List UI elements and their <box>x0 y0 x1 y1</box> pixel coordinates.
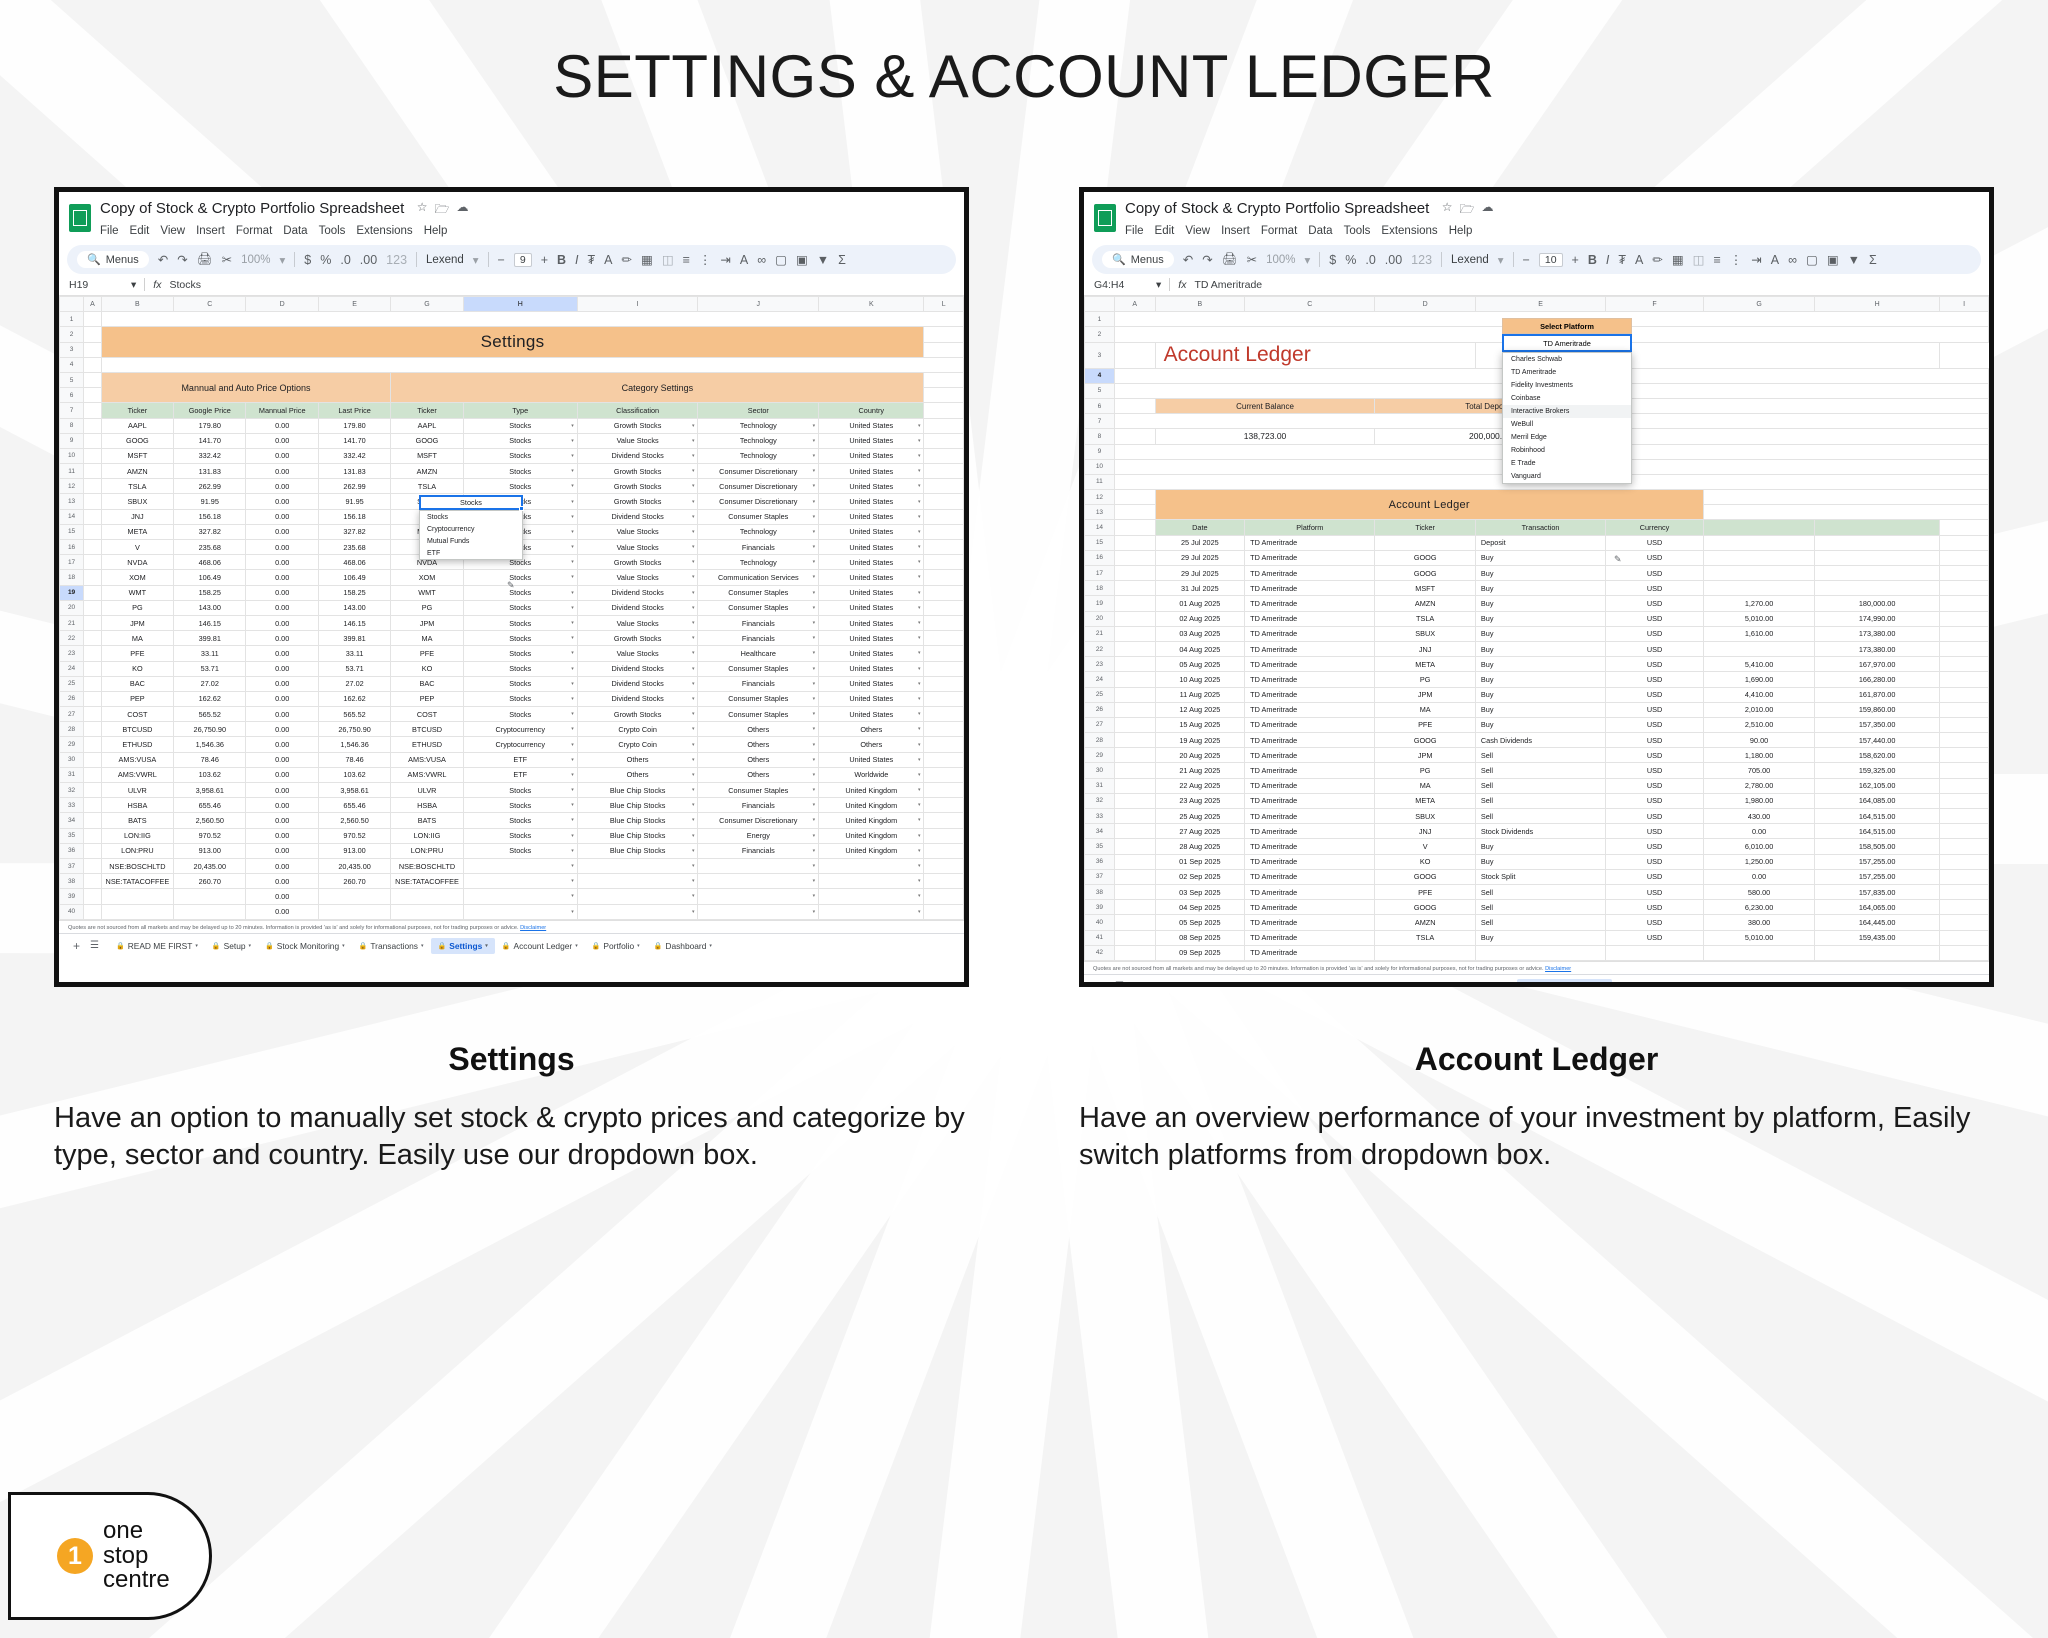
chevron-down-icon[interactable]: ▾ <box>918 544 921 550</box>
cell-ticker2[interactable] <box>391 904 463 919</box>
row-number[interactable]: 2 <box>1085 327 1115 342</box>
cell-google-price[interactable] <box>174 889 246 904</box>
sheet-tab-stock-monitoring[interactable]: 🔒Stock Monitoring▾ <box>1283 979 1377 987</box>
dropdown-cell[interactable]: Consumer Staples▾ <box>698 661 819 676</box>
cell-manual-price[interactable]: 0.00 <box>246 843 318 858</box>
cell-platform[interactable]: TD Ameritrade <box>1245 550 1375 565</box>
dropdown-cell[interactable]: Stocks▾ <box>463 464 577 479</box>
row-number[interactable]: 42 <box>1085 945 1115 960</box>
print-icon[interactable]: 🖨 <box>197 252 213 267</box>
dropdown-cell[interactable]: Financials▾ <box>698 676 819 691</box>
decrease-decimal-icon[interactable]: .0 <box>1365 253 1375 267</box>
chevron-down-icon[interactable]: ▾ <box>195 943 198 949</box>
cell-ticker2[interactable] <box>391 889 463 904</box>
dropdown-cell[interactable]: Value Stocks▾ <box>577 524 698 539</box>
dropdown-cell[interactable]: Dividend Stocks▾ <box>577 448 698 463</box>
row-number[interactable]: 6 <box>60 388 84 403</box>
dropdown-cell[interactable]: Crypto Coin▾ <box>577 737 698 752</box>
cell-last-price[interactable]: 162.62 <box>318 691 390 706</box>
chevron-down-icon[interactable]: ▾ <box>571 863 574 869</box>
more-formats-icon[interactable]: 123 <box>386 253 407 267</box>
font-size-increase-icon[interactable]: + <box>1572 253 1579 267</box>
cell-manual-price[interactable]: 0.00 <box>246 448 318 463</box>
dropdown-cell[interactable]: Consumer Discretionary▾ <box>698 494 819 509</box>
cell-platform[interactable]: TD Ameritrade <box>1245 611 1375 626</box>
dropdown-cell[interactable]: ▾ <box>698 889 819 904</box>
dropdown-cell[interactable]: Communication Services▾ <box>698 570 819 585</box>
dropdown-cell[interactable]: United Kingdom▾ <box>819 813 924 828</box>
move-folder-icon[interactable]: 🗁 <box>435 200 450 221</box>
chevron-down-icon[interactable]: ▾ <box>692 438 695 444</box>
chevron-down-icon[interactable]: ▾ <box>1446 984 1449 987</box>
chevron-down-icon[interactable]: ▾ <box>692 468 695 474</box>
cell-date[interactable]: 02 Sep 2025 <box>1155 869 1245 884</box>
cell-ticker[interactable]: META <box>1375 793 1475 808</box>
cell-currency[interactable]: USD <box>1606 748 1704 763</box>
row-number[interactable]: 8 <box>1085 429 1115 444</box>
dropdown-option-cryptocurrency[interactable]: Cryptocurrency <box>420 523 522 535</box>
dropdown-cell[interactable]: United States▾ <box>819 524 924 539</box>
chevron-down-icon[interactable]: ▾ <box>692 499 695 505</box>
cell-balance[interactable] <box>1815 581 1940 596</box>
cell-ticker[interactable]: NSE:TATACOFFEE <box>101 874 173 889</box>
cell-google-price[interactable]: 106.49 <box>174 570 246 585</box>
cell-balance[interactable]: 161,870.00 <box>1815 687 1940 702</box>
cell-last-price[interactable]: 158.25 <box>318 585 390 600</box>
cell-amount[interactable] <box>1703 550 1814 565</box>
chevron-down-icon[interactable]: ▾ <box>571 681 574 687</box>
cell-currency[interactable]: USD <box>1606 581 1704 596</box>
cell-last-price[interactable]: 26,750.90 <box>318 722 390 737</box>
cell-currency[interactable]: USD <box>1606 626 1704 641</box>
row-number[interactable]: 38 <box>60 874 84 889</box>
chevron-down-icon[interactable]: ▾ <box>813 650 816 656</box>
cell-google-price[interactable]: 53.71 <box>174 661 246 676</box>
chevron-down-icon[interactable]: ▾ <box>813 757 816 763</box>
row-number[interactable]: 33 <box>60 798 84 813</box>
cell-manual-price[interactable]: 0.00 <box>246 433 318 448</box>
cell-ticker2[interactable]: GOOG <box>391 433 463 448</box>
chevron-down-icon[interactable]: ▾ <box>571 817 574 823</box>
cell-ticker2[interactable]: XOM <box>391 570 463 585</box>
cell-amount[interactable]: 90.00 <box>1703 733 1814 748</box>
cell-date[interactable]: 01 Sep 2025 <box>1155 854 1245 869</box>
row-number[interactable]: 15 <box>1085 535 1115 550</box>
cell-date[interactable]: 29 Jul 2025 <box>1155 566 1245 581</box>
dropdown-cell[interactable]: United States▾ <box>819 464 924 479</box>
dropdown-cell[interactable]: United States▾ <box>819 752 924 767</box>
dropdown-cell[interactable]: Cryptocurrency▾ <box>463 722 577 737</box>
cell-google-price[interactable]: 27.02 <box>174 676 246 691</box>
chevron-down-icon[interactable]: ▾ <box>571 529 574 535</box>
cell-ticker2[interactable]: NSE:BOSCHLTD <box>391 858 463 873</box>
dropdown-cell[interactable]: ▾ <box>463 874 577 889</box>
sheet-tab-stock-monitoring[interactable]: 🔒Stock Monitoring▾ <box>258 938 352 954</box>
chevron-down-icon[interactable]: ▾ <box>813 681 816 687</box>
cell-ticker[interactable]: NVDA <box>101 555 173 570</box>
cell-last-price[interactable]: 468.06 <box>318 555 390 570</box>
chevron-down-icon[interactable]: ▾ <box>571 590 574 596</box>
menu-help[interactable]: Help <box>1449 225 1473 237</box>
cell-amount[interactable]: 5,410.00 <box>1703 657 1814 672</box>
cell-date[interactable]: 12 Aug 2025 <box>1155 702 1245 717</box>
cell-date[interactable]: 23 Aug 2025 <box>1155 793 1245 808</box>
cell-manual-price[interactable]: 0.00 <box>246 676 318 691</box>
cell-balance[interactable] <box>1815 945 1940 960</box>
cell-balance[interactable]: 157,350.00 <box>1815 717 1940 732</box>
row-number[interactable]: 34 <box>60 813 84 828</box>
cell-last-price[interactable]: 53.71 <box>318 661 390 676</box>
comment-icon[interactable]: ▢ <box>775 252 787 267</box>
dropdown-cell[interactable]: Consumer Staples▾ <box>698 600 819 615</box>
chevron-down-icon[interactable]: ▾ <box>692 848 695 854</box>
font-size-increase-icon[interactable]: + <box>541 253 548 267</box>
row-number[interactable]: 21 <box>60 615 84 630</box>
dropdown-cell[interactable]: Growth Stocks▾ <box>577 631 698 646</box>
cell-date[interactable]: 25 Jul 2025 <box>1155 535 1245 550</box>
platform-selected-value[interactable]: TD Ameritrade <box>1502 334 1632 352</box>
namebox-caret-icon[interactable]: ▾ <box>1156 279 1161 291</box>
dropdown-cell[interactable]: United Kingdom▾ <box>819 828 924 843</box>
cell-google-price[interactable]: 146.15 <box>174 615 246 630</box>
cell-transaction[interactable]: Sell <box>1475 809 1605 824</box>
chevron-down-icon[interactable]: ▾ <box>813 893 816 899</box>
chevron-down-icon[interactable]: ▾ <box>918 696 921 702</box>
cell-last-price[interactable]: 2,560.50 <box>318 813 390 828</box>
chevron-down-icon[interactable]: ▾ <box>813 848 816 854</box>
row-number[interactable]: 32 <box>60 783 84 798</box>
dropdown-cell[interactable]: ▾ <box>698 904 819 919</box>
cell-ticker[interactable]: JPM <box>101 615 173 630</box>
cell-amount[interactable]: 2,510.00 <box>1703 717 1814 732</box>
chevron-down-icon[interactable]: ▾ <box>918 817 921 823</box>
cell-balance[interactable]: 158,620.00 <box>1815 748 1940 763</box>
dropdown-cell[interactable]: Dividend Stocks▾ <box>577 600 698 615</box>
row-number[interactable]: 35 <box>60 828 84 843</box>
cell-platform[interactable]: TD Ameritrade <box>1245 641 1375 656</box>
dropdown-cell[interactable]: Growth Stocks▾ <box>577 418 698 433</box>
dropdown-cell[interactable]: Stocks▾ <box>463 631 577 646</box>
chevron-down-icon[interactable]: ▾ <box>918 423 921 429</box>
dropdown-cell[interactable]: United States▾ <box>819 615 924 630</box>
cell-last-price[interactable]: 78.46 <box>318 752 390 767</box>
cell-amount[interactable]: 1,610.00 <box>1703 626 1814 641</box>
cell-amount[interactable]: 430.00 <box>1703 809 1814 824</box>
zoom-caret-icon[interactable]: ▾ <box>279 253 285 267</box>
cell-google-price[interactable]: 2,560.50 <box>174 813 246 828</box>
dropdown-cell[interactable]: Value Stocks▾ <box>577 646 698 661</box>
chevron-down-icon[interactable]: ▾ <box>813 878 816 884</box>
dropdown-cell[interactable]: ▾ <box>463 889 577 904</box>
chevron-down-icon[interactable]: ▾ <box>571 909 574 915</box>
cell-ticker[interactable]: GOOG <box>1375 733 1475 748</box>
insert-chart-icon[interactable]: ▣ <box>1827 252 1839 267</box>
cell-balance[interactable] <box>1815 535 1940 550</box>
cell-ticker[interactable]: AMZN <box>1375 596 1475 611</box>
cell-balance[interactable]: 166,280.00 <box>1815 672 1940 687</box>
edit-pencil-icon[interactable]: ✎ <box>1614 554 1622 565</box>
cell-platform[interactable]: TD Ameritrade <box>1245 869 1375 884</box>
cell-amount[interactable]: 6,230.00 <box>1703 900 1814 915</box>
cell-currency[interactable]: USD <box>1606 596 1704 611</box>
row-number[interactable]: 3 <box>60 342 84 357</box>
cell-platform[interactable]: TD Ameritrade <box>1245 535 1375 550</box>
cell-manual-price[interactable]: 0.00 <box>246 555 318 570</box>
cell-ticker2[interactable]: AMS:VUSA <box>391 752 463 767</box>
font-caret-icon[interactable]: ▾ <box>1498 253 1504 267</box>
chevron-down-icon[interactable]: ▾ <box>692 909 695 915</box>
row-number[interactable]: 9 <box>60 433 84 448</box>
cell-amount[interactable]: 2,010.00 <box>1703 702 1814 717</box>
cell-platform[interactable]: TD Ameritrade <box>1245 702 1375 717</box>
chevron-down-icon[interactable]: ▾ <box>571 802 574 808</box>
dropdown-cell[interactable]: Blue Chip Stocks▾ <box>577 843 698 858</box>
dropdown-cell[interactable]: ▾ <box>819 904 924 919</box>
cell-balance[interactable]: 173,380.00 <box>1815 626 1940 641</box>
cell-last-price[interactable]: 565.52 <box>318 707 390 722</box>
cell-amount[interactable] <box>1703 641 1814 656</box>
borders-icon[interactable]: ▦ <box>641 252 653 267</box>
chevron-down-icon[interactable]: ▾ <box>637 943 640 949</box>
cell-amount[interactable] <box>1703 581 1814 596</box>
cell-date[interactable]: 31 Jul 2025 <box>1155 581 1245 596</box>
col-A[interactable]: A <box>1114 297 1155 312</box>
cell-currency[interactable]: USD <box>1606 535 1704 550</box>
cell-ticker2[interactable]: KO <box>391 661 463 676</box>
dropdown-cell[interactable]: United States▾ <box>819 691 924 706</box>
chevron-down-icon[interactable]: ▾ <box>918 574 921 580</box>
col-G[interactable]: G <box>1703 297 1814 312</box>
row-number[interactable]: 23 <box>60 646 84 661</box>
dropdown-cell[interactable]: Others▾ <box>819 722 924 737</box>
dropdown-cell[interactable]: Stocks▾ <box>463 783 577 798</box>
chevron-down-icon[interactable]: ▾ <box>692 863 695 869</box>
cell-transaction[interactable]: Sell <box>1475 793 1605 808</box>
cell-amount[interactable]: 1,980.00 <box>1703 793 1814 808</box>
chevron-down-icon[interactable]: ▾ <box>918 483 921 489</box>
cell-manual-price[interactable]: 0.00 <box>246 570 318 585</box>
dropdown-cell[interactable]: United States▾ <box>819 555 924 570</box>
dropdown-cell[interactable]: United States▾ <box>819 631 924 646</box>
cell-google-price[interactable]: 103.62 <box>174 767 246 782</box>
cell-balance[interactable] <box>1815 566 1940 581</box>
cell-google-price[interactable]: 20,435.00 <box>174 858 246 873</box>
chevron-down-icon[interactable]: ▾ <box>692 681 695 687</box>
row-number[interactable]: 41 <box>1085 930 1115 945</box>
row-number[interactable]: 37 <box>1085 869 1115 884</box>
cell-currency[interactable] <box>1606 945 1704 960</box>
dropdown-cell[interactable]: United Kingdom▾ <box>819 783 924 798</box>
cell-last-price[interactable]: 20,435.00 <box>318 858 390 873</box>
row-number[interactable]: 34 <box>1085 824 1115 839</box>
chevron-down-icon[interactable]: ▾ <box>1220 984 1223 987</box>
cell-ticker2[interactable]: BAC <box>391 676 463 691</box>
cell-ticker[interactable]: PEP <box>101 691 173 706</box>
chevron-down-icon[interactable]: ▾ <box>1737 984 1740 987</box>
cell-transaction[interactable]: Buy <box>1475 657 1605 672</box>
chevron-down-icon[interactable]: ▾ <box>571 620 574 626</box>
row-number[interactable]: 11 <box>60 464 84 479</box>
cell-transaction[interactable]: Buy <box>1475 566 1605 581</box>
cell-date[interactable]: 02 Aug 2025 <box>1155 611 1245 626</box>
dropdown-cell[interactable]: Stocks▾ <box>463 448 577 463</box>
row-number[interactable]: 2 <box>60 327 84 342</box>
cell-ticker[interactable]: JNJ <box>1375 824 1475 839</box>
row-number[interactable]: 5 <box>60 372 84 387</box>
increase-decimal-icon[interactable]: .00 <box>1385 253 1402 267</box>
chevron-down-icon[interactable]: ▾ <box>692 787 695 793</box>
chevron-down-icon[interactable]: ▾ <box>575 943 578 949</box>
cell-manual-price[interactable]: 0.00 <box>246 691 318 706</box>
link-icon[interactable]: ∞ <box>1788 253 1797 267</box>
more-formats-icon[interactable]: 123 <box>1411 253 1432 267</box>
cell-last-price[interactable]: 399.81 <box>318 631 390 646</box>
cell-reference-right[interactable]: G4:H4 <box>1094 279 1148 291</box>
dropdown-cell[interactable]: United States▾ <box>819 540 924 555</box>
menu-insert[interactable]: Insert <box>196 225 225 237</box>
font-family-select[interactable]: Lexend <box>426 254 464 266</box>
cell-manual-price[interactable]: 0.00 <box>246 767 318 782</box>
dropdown-cell[interactable]: Consumer Staples▾ <box>698 691 819 706</box>
cell-google-price[interactable]: 131.83 <box>174 464 246 479</box>
cell-last-price[interactable]: 27.02 <box>318 676 390 691</box>
cell-ticker[interactable]: GOOG <box>1375 550 1475 565</box>
vertical-align-icon[interactable]: ⋮ <box>1730 252 1743 267</box>
chevron-down-icon[interactable]: ▾ <box>692 757 695 763</box>
disclaimer-link[interactable]: Disclaimer <box>520 925 546 931</box>
cell-ticker2[interactable]: PFE <box>391 646 463 661</box>
cell-currency[interactable]: USD <box>1606 657 1704 672</box>
dropdown-cell[interactable]: United States▾ <box>819 707 924 722</box>
dropdown-cell[interactable]: Stocks▾ <box>463 615 577 630</box>
chevron-down-icon[interactable]: ▾ <box>571 772 574 778</box>
cell-balance[interactable]: 158,505.00 <box>1815 839 1940 854</box>
cell-platform[interactable]: TD Ameritrade <box>1245 566 1375 581</box>
dropdown-cell[interactable]: Dividend Stocks▾ <box>577 691 698 706</box>
chevron-down-icon[interactable]: ▾ <box>813 772 816 778</box>
cell-ticker[interactable]: V <box>101 540 173 555</box>
cell-transaction[interactable]: Buy <box>1475 839 1605 854</box>
cell-platform[interactable]: TD Ameritrade <box>1245 824 1375 839</box>
cell-manual-price[interactable]: 0.00 <box>246 479 318 494</box>
cell-google-price[interactable]: 468.06 <box>174 555 246 570</box>
cell-ticker2[interactable]: JPM <box>391 615 463 630</box>
cell-last-price[interactable]: 91.95 <box>318 494 390 509</box>
cell-platform[interactable]: TD Ameritrade <box>1245 900 1375 915</box>
cell-transaction[interactable]: Buy <box>1475 930 1605 945</box>
redo-icon[interactable]: ↷ <box>1202 252 1212 267</box>
cell-date[interactable]: 09 Sep 2025 <box>1155 945 1245 960</box>
cell-transaction[interactable]: Sell <box>1475 900 1605 915</box>
dropdown-cell[interactable]: Stocks▾ <box>463 813 577 828</box>
percent-format-icon[interactable]: % <box>320 253 331 267</box>
chevron-down-icon[interactable]: ▾ <box>571 650 574 656</box>
menu-data[interactable]: Data <box>1308 225 1332 237</box>
chevron-down-icon[interactable]: ▾ <box>692 483 695 489</box>
cell-ticker2[interactable]: AMS:VWRL <box>391 767 463 782</box>
menus-button[interactable]: 🔍 Menus <box>77 251 149 268</box>
chevron-down-icon[interactable]: ▾ <box>918 802 921 808</box>
cell-currency[interactable]: USD <box>1606 854 1704 869</box>
chevron-down-icon[interactable]: ▾ <box>571 468 574 474</box>
cell-platform[interactable]: TD Ameritrade <box>1245 930 1375 945</box>
cell-manual-price[interactable]: 0.00 <box>246 661 318 676</box>
cell-last-price[interactable]: 106.49 <box>318 570 390 585</box>
cell-currency[interactable]: USD <box>1606 869 1704 884</box>
currency-format-icon[interactable]: $ <box>1329 253 1336 267</box>
cell-ticker[interactable]: GOOG <box>1375 869 1475 884</box>
row-number[interactable]: 40 <box>60 904 84 919</box>
cell-currency[interactable]: USD <box>1606 687 1704 702</box>
dropdown-cell[interactable]: Cryptocurrency▾ <box>463 737 577 752</box>
chevron-down-icon[interactable]: ▾ <box>571 559 574 565</box>
row-number[interactable]: 36 <box>60 843 84 858</box>
row-number[interactable]: 18 <box>1085 581 1115 596</box>
menu-insert[interactable]: Insert <box>1221 225 1250 237</box>
chevron-down-icon[interactable]: ▾ <box>813 590 816 596</box>
cell-date[interactable]: 29 Jul 2025 <box>1155 550 1245 565</box>
dropdown-cell[interactable]: Technology▾ <box>698 418 819 433</box>
row-number[interactable]: 16 <box>60 540 84 555</box>
chevron-down-icon[interactable]: ▾ <box>918 590 921 596</box>
sheet-tab-portfolio[interactable]: 🔒Portfolio▾ <box>1612 979 1674 987</box>
cell-transaction[interactable]: Buy <box>1475 626 1605 641</box>
row-number[interactable]: 21 <box>1085 626 1115 641</box>
cell-date[interactable]: 25 Aug 2025 <box>1155 809 1245 824</box>
cell-manual-price[interactable]: 0.00 <box>246 858 318 873</box>
menu-extensions[interactable]: Extensions <box>356 225 412 237</box>
add-sheet-icon[interactable]: + <box>1090 980 1113 987</box>
row-number[interactable]: 24 <box>60 661 84 676</box>
horizontal-align-icon[interactable]: ≡ <box>683 253 690 267</box>
col-L[interactable]: L <box>924 297 964 312</box>
functions-icon[interactable]: Σ <box>1869 253 1877 267</box>
cell-currency[interactable]: USD <box>1606 839 1704 854</box>
cell-manual-price[interactable]: 0.00 <box>246 904 318 919</box>
sheet-tab-account-ledger[interactable]: 🔒Account Ledger▾ <box>1517 979 1612 987</box>
cell-balance[interactable]: 164,085.00 <box>1815 793 1940 808</box>
row-number[interactable]: 15 <box>60 524 84 539</box>
chevron-down-icon[interactable]: ▾ <box>918 468 921 474</box>
sheet-tab-account-ledger[interactable]: 🔒Account Ledger▾ <box>495 938 585 954</box>
dropdown-cell[interactable]: Worldwide▾ <box>819 767 924 782</box>
cell-currency[interactable]: USD <box>1606 900 1704 915</box>
chevron-down-icon[interactable]: ▾ <box>485 943 488 949</box>
cell-reference-left[interactable]: H19 <box>69 279 123 291</box>
row-number[interactable]: 33 <box>1085 809 1115 824</box>
row-number[interactable]: 7 <box>1085 414 1115 429</box>
cell-last-price[interactable]: 235.68 <box>318 540 390 555</box>
cell-ticker[interactable]: KO <box>1375 854 1475 869</box>
cell-manual-price[interactable]: 0.00 <box>246 631 318 646</box>
sheet-tab-portfolio[interactable]: 🔒Portfolio▾ <box>585 938 647 954</box>
text-rotation-icon[interactable]: A <box>740 253 748 267</box>
chevron-down-icon[interactable]: ▾ <box>813 726 816 732</box>
cell-date[interactable]: 01 Aug 2025 <box>1155 596 1245 611</box>
cell-ticker[interactable]: SBUX <box>101 494 173 509</box>
cell-manual-price[interactable]: 0.00 <box>246 585 318 600</box>
cell-ticker2[interactable]: AAPL <box>391 418 463 433</box>
chevron-down-icon[interactable]: ▾ <box>571 574 574 580</box>
font-size-decrease-icon[interactable]: − <box>498 253 505 267</box>
chevron-down-icon[interactable]: ▾ <box>813 468 816 474</box>
disclaimer-link[interactable]: Disclaimer <box>1545 966 1571 972</box>
cell-ticker[interactable] <box>101 904 173 919</box>
cell-currency[interactable]: USD <box>1606 778 1704 793</box>
dropdown-cell[interactable]: Healthcare▾ <box>698 646 819 661</box>
cell-ticker[interactable]: JNJ <box>1375 641 1475 656</box>
cell-last-price[interactable] <box>318 889 390 904</box>
